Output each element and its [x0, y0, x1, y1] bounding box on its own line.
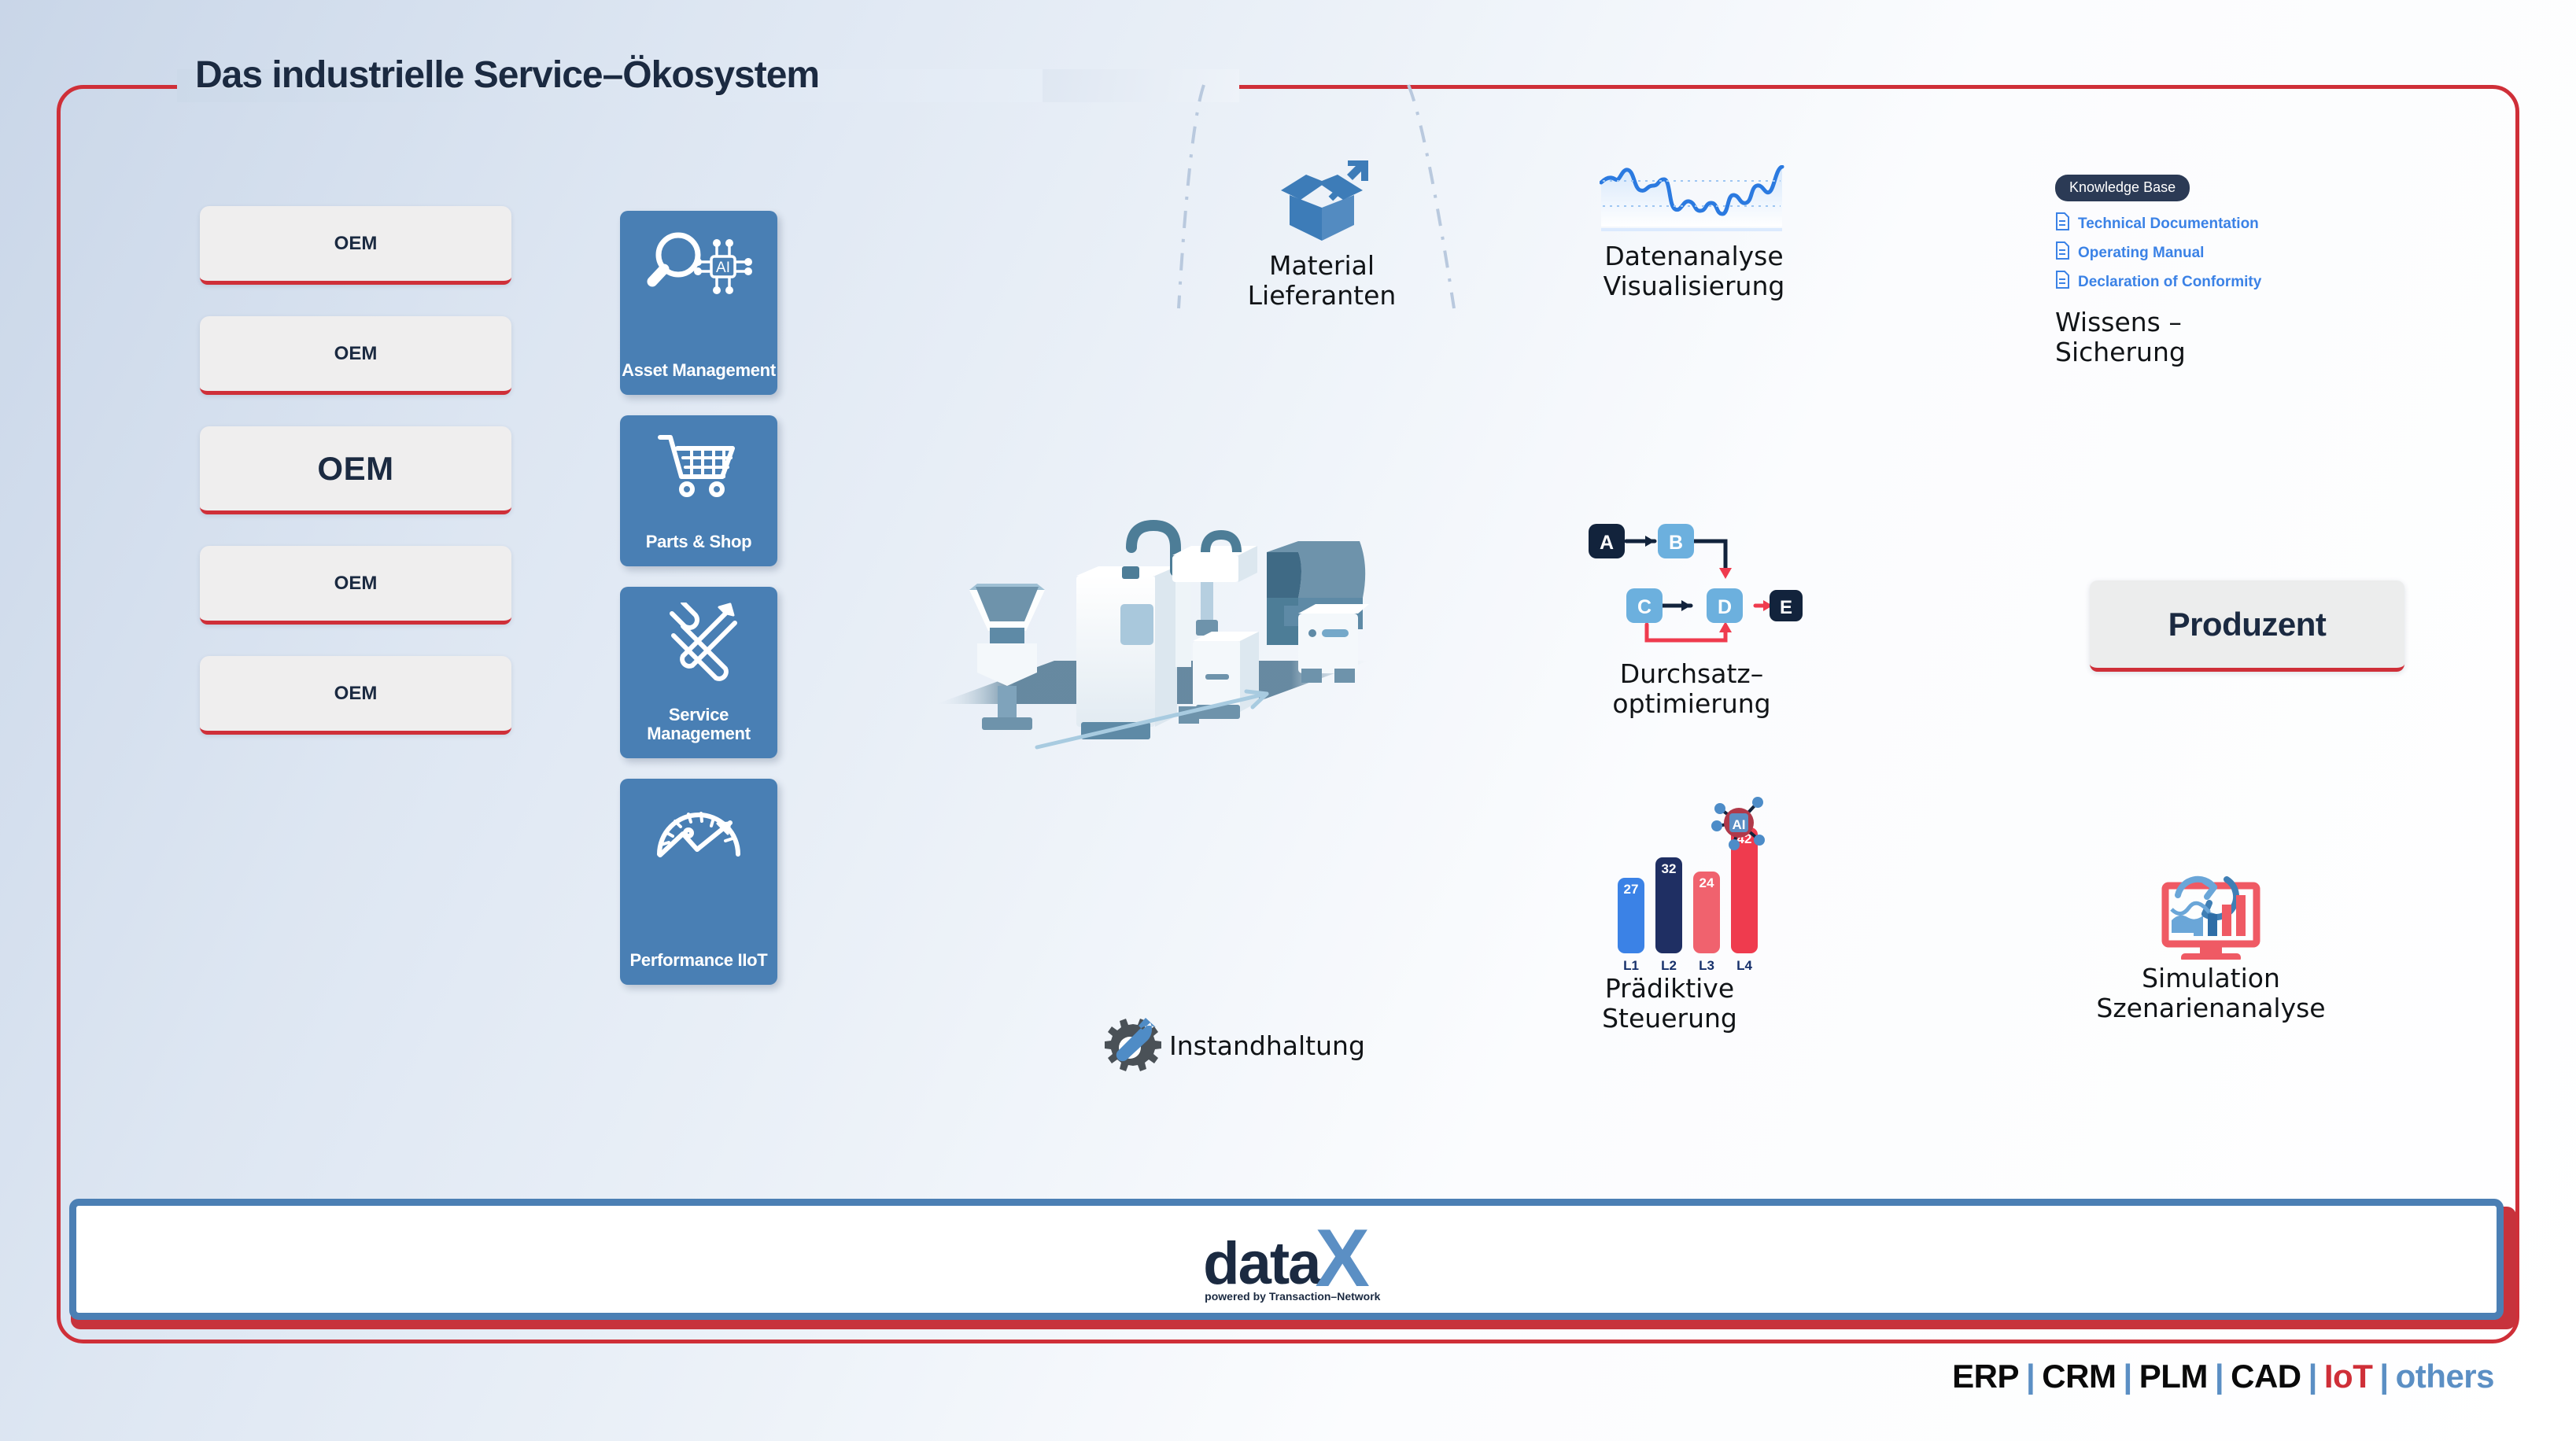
node-instandhaltung[interactable]: Instandhaltung [1102, 1013, 1401, 1080]
svg-text:A: A [1600, 532, 1614, 554]
monitor-refresh-chart-icon [2148, 949, 2274, 963]
logo-accent: X [1315, 1227, 1369, 1291]
service-card-parts-shop[interactable]: Parts & Shop [620, 415, 777, 566]
svg-text:D: D [1718, 596, 1732, 618]
service-card-performance-iiot[interactable]: Performance IIoT [620, 779, 777, 985]
oem-box-primary[interactable]: OEM [200, 426, 511, 514]
footer-tag-crm: CRM [2042, 1358, 2116, 1395]
ai-node-icon: AI [1711, 794, 1759, 843]
node-label: Material Lieferanten [1164, 251, 1479, 311]
service-card-label: Parts & Shop [620, 533, 777, 552]
footer-tag-iot: IoT [2324, 1358, 2372, 1395]
oem-column: OEM OEM OEM OEM OEM [200, 206, 511, 766]
process-flow-icon: A B C D E [1550, 510, 1833, 659]
produzent-box[interactable]: Produzent [2090, 580, 2404, 672]
svg-text:C: C [1637, 596, 1652, 618]
oem-label: OEM [334, 683, 378, 705]
svg-text:E: E [1780, 597, 1792, 618]
node-label: Instandhaltung [1169, 1031, 1365, 1061]
oem-box[interactable]: OEM [200, 316, 511, 395]
service-card-label: Asset Management [620, 361, 777, 381]
kb-document-label: Operating Manual [2078, 245, 2204, 262]
footer-tag-plm: PLM [2139, 1358, 2208, 1395]
footer-tags: ERP | CRM | PLM | CAD | IoT | others [1952, 1358, 2494, 1395]
oem-label: OEM [334, 343, 378, 365]
node-praediktive-steuerung[interactable]: 27 32 24 42 L1 L2 L3 L4 AI [1544, 824, 1795, 1034]
bar-l1: 27 [1618, 878, 1644, 953]
gear-wrench-icon [1102, 1013, 1164, 1080]
kb-document-item[interactable]: Technical Documentation [2055, 212, 2386, 235]
oem-label: OEM [317, 450, 393, 488]
open-box-arrow-icon [1271, 237, 1373, 250]
bar-l3: 24 [1693, 872, 1720, 953]
footer-tag-others: others [2396, 1358, 2494, 1395]
bar-label-l2: L2 [1655, 958, 1682, 974]
service-card-service-management[interactable]: Service Management [620, 587, 777, 758]
footer-separator: | [2215, 1358, 2224, 1395]
document-icon [2055, 212, 2070, 235]
wrench-screwdriver-icon [659, 603, 738, 685]
document-icon [2055, 241, 2070, 264]
svg-text:B: B [1669, 532, 1683, 554]
kb-document-item[interactable]: Operating Manual [2055, 241, 2386, 264]
node-label: Prädiktive Steuerung [1544, 974, 1795, 1034]
node-label: Simulation Szenarienanalyse [2054, 964, 2368, 1024]
logo-tagline: powered by Transaction–Network [1205, 1290, 1380, 1303]
service-card-asset-management[interactable]: AI Asset Management [620, 211, 777, 395]
node-label: Wissens – Sicherung [2055, 308, 2386, 368]
service-card-label: Service Management [620, 706, 777, 744]
oem-box[interactable]: OEM [200, 656, 511, 735]
footer-tag-erp: ERP [1952, 1358, 2019, 1395]
datax-logo: data X powered by Transaction–Network [1203, 1227, 1370, 1291]
oem-box[interactable]: OEM [200, 206, 511, 285]
bar-label-l1: L1 [1618, 958, 1644, 974]
node-production-line [928, 511, 1369, 775]
bar-label-l4: L4 [1731, 958, 1758, 974]
production-line-icon [928, 761, 1369, 774]
node-label: Durchsatz– optimierung [1550, 659, 1833, 720]
magnifier-ai-chip-icon: AI [644, 227, 754, 317]
document-icon [2055, 271, 2070, 293]
node-label: Datenanalyse Visualisierung [1564, 241, 1824, 302]
kb-document-label: Technical Documentation [2078, 216, 2259, 233]
gauge-icon [651, 794, 746, 869]
shopping-cart-icon [655, 431, 742, 503]
oem-label: OEM [334, 233, 378, 255]
svg-text:AI: AI [716, 260, 730, 276]
kb-document-label: Declaration of Conformity [2078, 274, 2261, 291]
node-datenanalyse[interactable]: Datenanalyse Visualisierung [1564, 165, 1824, 302]
node-simulation[interactable]: Simulation Szenarienanalyse [2054, 857, 2368, 1024]
page-title: Das industrielle Service–Ökosystem [195, 53, 819, 97]
node-produzent[interactable]: Produzent [2090, 580, 2404, 672]
kb-document-item[interactable]: Declaration of Conformity [2055, 271, 2386, 293]
line-chart-icon [1600, 227, 1788, 241]
footer-tag-cad: CAD [2231, 1358, 2301, 1395]
status-badge: Knowledge Base [2055, 175, 2190, 201]
produzent-label: Produzent [2168, 606, 2327, 643]
footer-separator: | [2379, 1358, 2388, 1395]
footer-separator: | [2123, 1358, 2131, 1395]
oem-box[interactable]: OEM [200, 546, 511, 625]
bar-l2: 32 [1655, 857, 1682, 953]
bar-label-l3: L3 [1693, 958, 1720, 974]
bar-chart: 27 32 24 42 L1 L2 L3 L4 AI [1591, 824, 1748, 974]
logo-text: data [1203, 1237, 1319, 1291]
footer-separator: | [2308, 1358, 2317, 1395]
service-card-label: Performance IIoT [620, 951, 777, 971]
knowledge-base-block: Knowledge Base Technical Documentation O… [2055, 175, 2386, 368]
oem-label: OEM [334, 573, 378, 595]
frame-mask-right [1043, 69, 1239, 102]
footer-separator: | [2026, 1358, 2035, 1395]
service-card-column: AI Asset Management [620, 211, 777, 1005]
svg-text:AI: AI [1733, 817, 1746, 832]
node-material-lieferanten[interactable]: Material Lieferanten [1164, 154, 1479, 311]
banner-logo-bar: data X powered by Transaction–Network [69, 1199, 2504, 1320]
node-durchsatzoptimierung[interactable]: A B C D E Durchsatz– optimierung [1550, 510, 1833, 720]
